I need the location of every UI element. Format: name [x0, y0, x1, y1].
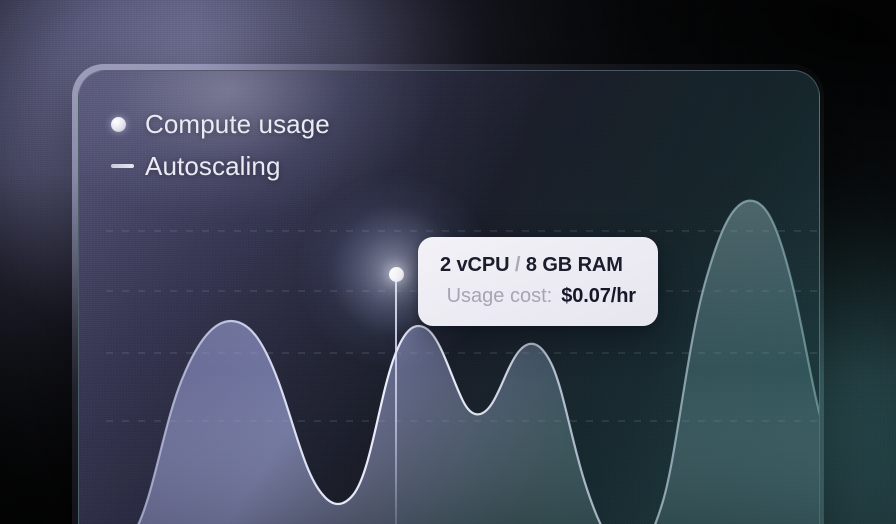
- highlight-point-marker[interactable]: [389, 267, 404, 282]
- tooltip-cost-label: Usage cost:: [447, 285, 553, 308]
- tooltip-spec-line: 2 vCPU / 8 GB RAM: [440, 254, 636, 277]
- legend-label-autoscaling: Autoscaling: [145, 151, 281, 182]
- tooltip-vcpu: 2 vCPU: [440, 254, 509, 276]
- legend-item-compute-usage[interactable]: Compute usage: [111, 103, 330, 145]
- tooltip-cost-line: Usage cost: $0.07/hr: [440, 285, 636, 308]
- chart-legend: Compute usage Autoscaling: [111, 103, 330, 187]
- legend-label-compute-usage: Compute usage: [145, 109, 330, 140]
- tooltip-cost-value: $0.07/hr: [561, 285, 636, 308]
- legend-dot-icon: [111, 117, 145, 132]
- tooltip-ram: 8 GB RAM: [526, 254, 623, 276]
- legend-dash-icon: [111, 164, 145, 168]
- chart-screenshot: Compute usage Autoscaling 2 vCPU / 8 GB …: [0, 0, 896, 524]
- legend-item-autoscaling[interactable]: Autoscaling: [111, 145, 330, 187]
- crosshair-line: [395, 267, 397, 524]
- chart-card: Compute usage Autoscaling 2 vCPU / 8 GB …: [78, 70, 820, 524]
- tooltip-separator: /: [515, 254, 520, 276]
- chart-tooltip: 2 vCPU / 8 GB RAM Usage cost: $0.07/hr: [418, 237, 658, 326]
